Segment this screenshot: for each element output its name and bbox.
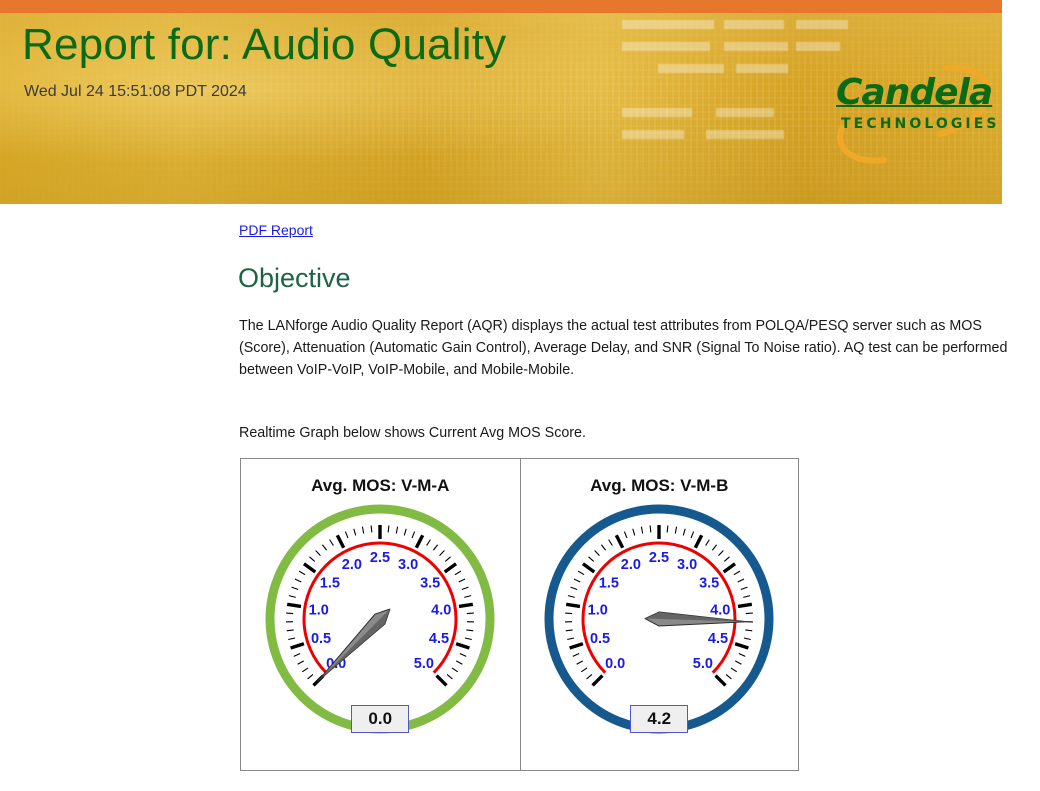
svg-text:2.0: 2.0 <box>621 557 641 573</box>
gauge-value-box-v-m-a: 0.0 <box>351 705 409 733</box>
page-title: Report for: Audio Quality <box>22 20 506 70</box>
gauge-cell-v-m-a: Avg. MOS: V-M-A 0.00.51.01.52.02.53.03.5… <box>241 459 520 770</box>
svg-text:4.5: 4.5 <box>429 631 449 647</box>
gauge-panel: Avg. MOS: V-M-A 0.00.51.01.52.02.53.03.5… <box>240 458 799 771</box>
logo-wordmark: Candela <box>836 72 992 113</box>
realtime-graph-note: Realtime Graph below shows Current Avg M… <box>239 425 586 441</box>
report-timestamp: Wed Jul 24 15:51:08 PDT 2024 <box>24 83 247 101</box>
svg-text:4.0: 4.0 <box>710 602 730 618</box>
svg-text:2.5: 2.5 <box>649 550 669 566</box>
svg-text:1.5: 1.5 <box>599 576 619 592</box>
page-banner: Report for: Audio Quality Wed Jul 24 15:… <box>0 0 1002 204</box>
svg-text:1.0: 1.0 <box>588 602 608 618</box>
logo-tagline: TECHNOLOGIES <box>841 116 1000 132</box>
objective-heading: Objective <box>238 263 351 294</box>
svg-text:5.0: 5.0 <box>693 656 713 672</box>
svg-text:0.5: 0.5 <box>311 631 331 647</box>
gauge-value-box-v-m-b: 4.2 <box>630 705 688 733</box>
gauge-title-v-m-b: Avg. MOS: V-M-B <box>521 476 799 496</box>
svg-text:3.0: 3.0 <box>677 557 697 573</box>
gauge-dial-v-m-b: 0.00.51.01.52.02.53.03.54.04.55.0 <box>543 503 775 735</box>
svg-text:0.5: 0.5 <box>590 631 610 647</box>
gauge-dial-v-m-a: 0.00.51.01.52.02.53.03.54.04.55.0 <box>264 503 496 735</box>
svg-text:1.5: 1.5 <box>320 576 340 592</box>
svg-text:0.0: 0.0 <box>605 656 625 672</box>
svg-text:4.5: 4.5 <box>708 631 728 647</box>
svg-text:3.0: 3.0 <box>398 557 418 573</box>
svg-text:4.0: 4.0 <box>431 602 451 618</box>
banner-top-orange-bar <box>0 0 1002 13</box>
svg-text:2.0: 2.0 <box>342 557 362 573</box>
svg-text:3.5: 3.5 <box>420 576 440 592</box>
pdf-report-link[interactable]: PDF Report <box>239 222 313 238</box>
svg-text:3.5: 3.5 <box>699 576 719 592</box>
gauge-cell-v-m-b: Avg. MOS: V-M-B 0.00.51.01.52.02.53.03.5… <box>520 459 799 770</box>
objective-description: The LANforge Audio Quality Report (AQR) … <box>239 315 1017 381</box>
gauge-title-v-m-a: Avg. MOS: V-M-A <box>241 476 520 496</box>
svg-text:1.0: 1.0 <box>309 602 329 618</box>
candela-logo: Candela TECHNOLOGIES <box>828 60 998 165</box>
svg-text:2.5: 2.5 <box>370 550 390 566</box>
svg-text:5.0: 5.0 <box>414 656 434 672</box>
